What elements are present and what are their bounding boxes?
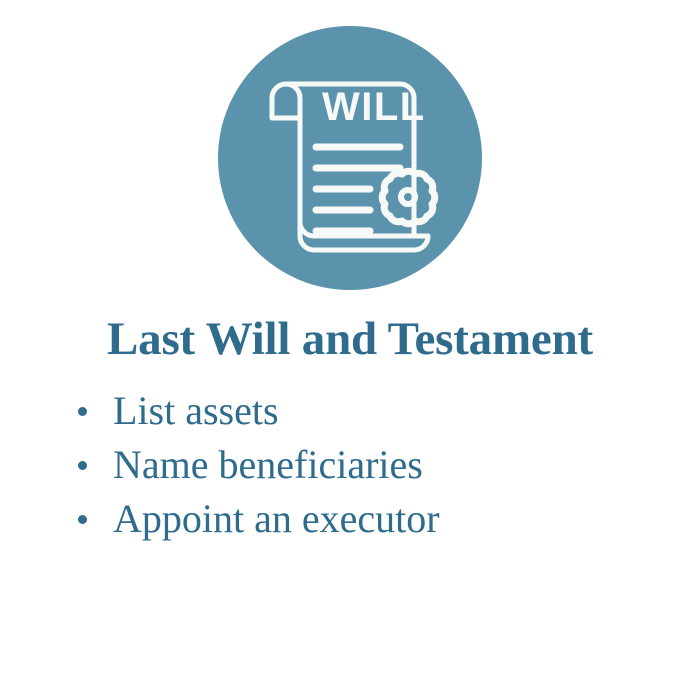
bullet-dot-icon (78, 461, 87, 470)
list-item: List assets (78, 384, 440, 438)
bullet-dot-icon (78, 515, 87, 524)
will-infographic-card: WILL Last Will and Testament List assets (0, 0, 700, 700)
will-scroll-icon: WILL (218, 26, 482, 290)
list-item-label: Appoint an executor (113, 492, 440, 546)
bullet-dot-icon (78, 407, 87, 416)
will-scroll-icon-svg: WILL (218, 26, 482, 290)
will-wordmark: WILL (322, 85, 426, 129)
list-item-label: List assets (113, 384, 279, 438)
list-item-label: Name beneficiaries (113, 438, 423, 492)
page-title: Last Will and Testament (0, 316, 700, 363)
list-item: Name beneficiaries (78, 438, 440, 492)
will-checklist: List assets Name beneficiaries Appoint a… (78, 384, 440, 546)
list-item: Appoint an executor (78, 492, 440, 546)
